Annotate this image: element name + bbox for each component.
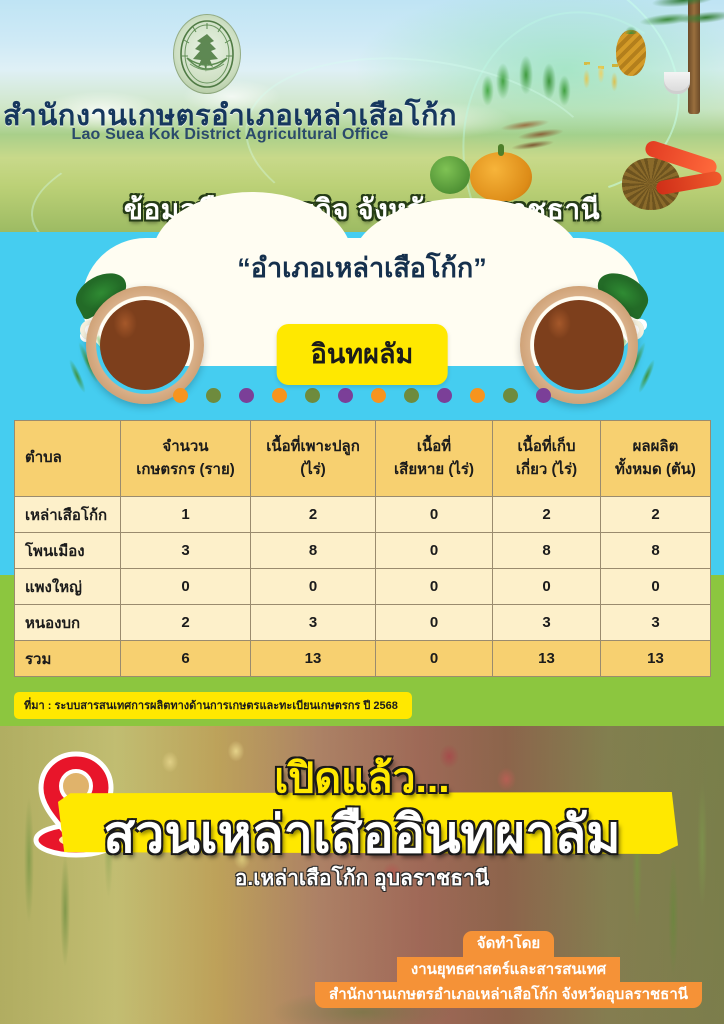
- credit-line-2: งานยุทธศาสตร์และสารสนเทศ: [397, 957, 620, 983]
- column-header-planted-area: เนื้อที่เพาะปลูก (ไร่): [251, 421, 376, 497]
- cell-planted: 3: [251, 605, 376, 641]
- credit-block: จัดทำโดย งานยุทธศาสตร์และสารสนเทศ สำนักง…: [315, 931, 702, 1008]
- banner-title: ข้อมูลพืชเศรษฐกิจ จังหวัดอุบลราชธานี: [0, 188, 724, 232]
- decorative-dot-row: [0, 388, 724, 403]
- cell-harvested: 2: [493, 497, 601, 533]
- cell-subdistrict: โพนเมือง: [15, 533, 121, 569]
- cell-harvested: 13: [493, 641, 601, 677]
- cell-yield: 3: [601, 605, 711, 641]
- cell-subdistrict: หนองบก: [15, 605, 121, 641]
- cell-damaged: 0: [376, 533, 493, 569]
- table-header-row: ตำบล จำนวน เกษตรกร (ราย) เนื้อที่เพาะปลู…: [15, 421, 711, 497]
- header-banner: สำนักงานเกษตรอำเภอเหล่าเสือโก้ก Lao Suea…: [0, 0, 724, 232]
- cell-damaged: 0: [376, 569, 493, 605]
- cassava-leaf-image: [478, 36, 574, 114]
- cell-damaged: 0: [376, 605, 493, 641]
- cell-damaged: 0: [376, 497, 493, 533]
- decorative-dot: [404, 388, 419, 403]
- cell-yield: 0: [601, 569, 711, 605]
- column-header-farmers: จำนวน เกษตรกร (ราย): [121, 421, 251, 497]
- decorative-dot: [272, 388, 287, 403]
- crop-name-badge: อินทผลัม: [277, 324, 448, 385]
- column-header-harvested-area: เนื้อที่เก็บ เกี่ยว (ไร่): [493, 421, 601, 497]
- cell-subdistrict: รวม: [15, 641, 121, 677]
- decorative-dot: [173, 388, 188, 403]
- garden-location-text: อ.เหล่าเสือโก้ก อุบลราชธานี: [0, 862, 724, 895]
- column-header-total-yield: ผลผลิต ทั้งหมด (ตัน): [601, 421, 711, 497]
- infographic-poster: สำนักงานเกษตรอำเภอเหล่าเสือโก้ก Lao Suea…: [0, 0, 724, 1024]
- column-header-damaged-area: เนื้อที่ เสียหาย (ไร่): [376, 421, 493, 497]
- rubber-tapping-cup-image: [664, 72, 690, 94]
- table-row: โพนเมือง38088: [15, 533, 711, 569]
- cell-planted: 8: [251, 533, 376, 569]
- date-fruit-bowl-image: [520, 286, 638, 404]
- cell-damaged: 0: [376, 641, 493, 677]
- cell-harvested: 3: [493, 605, 601, 641]
- cell-planted: 13: [251, 641, 376, 677]
- decorative-dot: [371, 388, 386, 403]
- credit-line-3: สำนักงานเกษตรอำเภอเหล่าเสือโก้ก จังหวัดอ…: [315, 982, 702, 1008]
- cell-yield: 13: [601, 641, 711, 677]
- crop-data-table: ตำบล จำนวน เกษตรกร (ราย) เนื้อที่เพาะปลู…: [14, 420, 711, 677]
- table-row: เหล่าเสือโก้ก12022: [15, 497, 711, 533]
- cell-planted: 2: [251, 497, 376, 533]
- decorative-dot: [305, 388, 320, 403]
- credit-line-1: จัดทำโดย: [463, 931, 554, 957]
- source-note: ที่มา : ระบบสารสนเทศการผลิตทางด้านการเกษ…: [14, 692, 412, 719]
- cell-yield: 8: [601, 533, 711, 569]
- decorative-dot: [470, 388, 485, 403]
- cell-subdistrict: เหล่าเสือโก้ก: [15, 497, 121, 533]
- dates-pile: [100, 300, 190, 390]
- table-row: หนองบก23033: [15, 605, 711, 641]
- cell-farmers: 6: [121, 641, 251, 677]
- rice-grain-image: [576, 58, 624, 128]
- cell-farmers: 1: [121, 497, 251, 533]
- cell-farmers: 3: [121, 533, 251, 569]
- table-total-row: รวม61301313: [15, 641, 711, 677]
- cell-harvested: 0: [493, 569, 601, 605]
- cell-farmers: 0: [121, 569, 251, 605]
- decorative-dot: [437, 388, 452, 403]
- decorative-dot: [536, 388, 551, 403]
- cell-harvested: 8: [493, 533, 601, 569]
- cell-farmers: 2: [121, 605, 251, 641]
- column-header-subdistrict: ตำบล: [15, 421, 121, 497]
- cell-yield: 2: [601, 497, 711, 533]
- office-name-english: Lao Suea Kok District Agricultural Offic…: [0, 126, 460, 144]
- table-row: แพงใหญ่00000: [15, 569, 711, 605]
- dates-pile: [534, 300, 624, 390]
- cell-subdistrict: แพงใหญ่: [15, 569, 121, 605]
- decorative-dot: [338, 388, 353, 403]
- decorative-dot: [503, 388, 518, 403]
- decorative-dot: [239, 388, 254, 403]
- cell-planted: 0: [251, 569, 376, 605]
- date-fruit-bowl-image: [86, 286, 204, 404]
- decorative-dot: [206, 388, 221, 403]
- crop-data-table-container: ตำบล จำนวน เกษตรกร (ราย) เนื้อที่เพาะปลู…: [14, 420, 710, 677]
- garuda-emblem-icon: [173, 14, 241, 94]
- palm-crown-image: [637, 0, 724, 61]
